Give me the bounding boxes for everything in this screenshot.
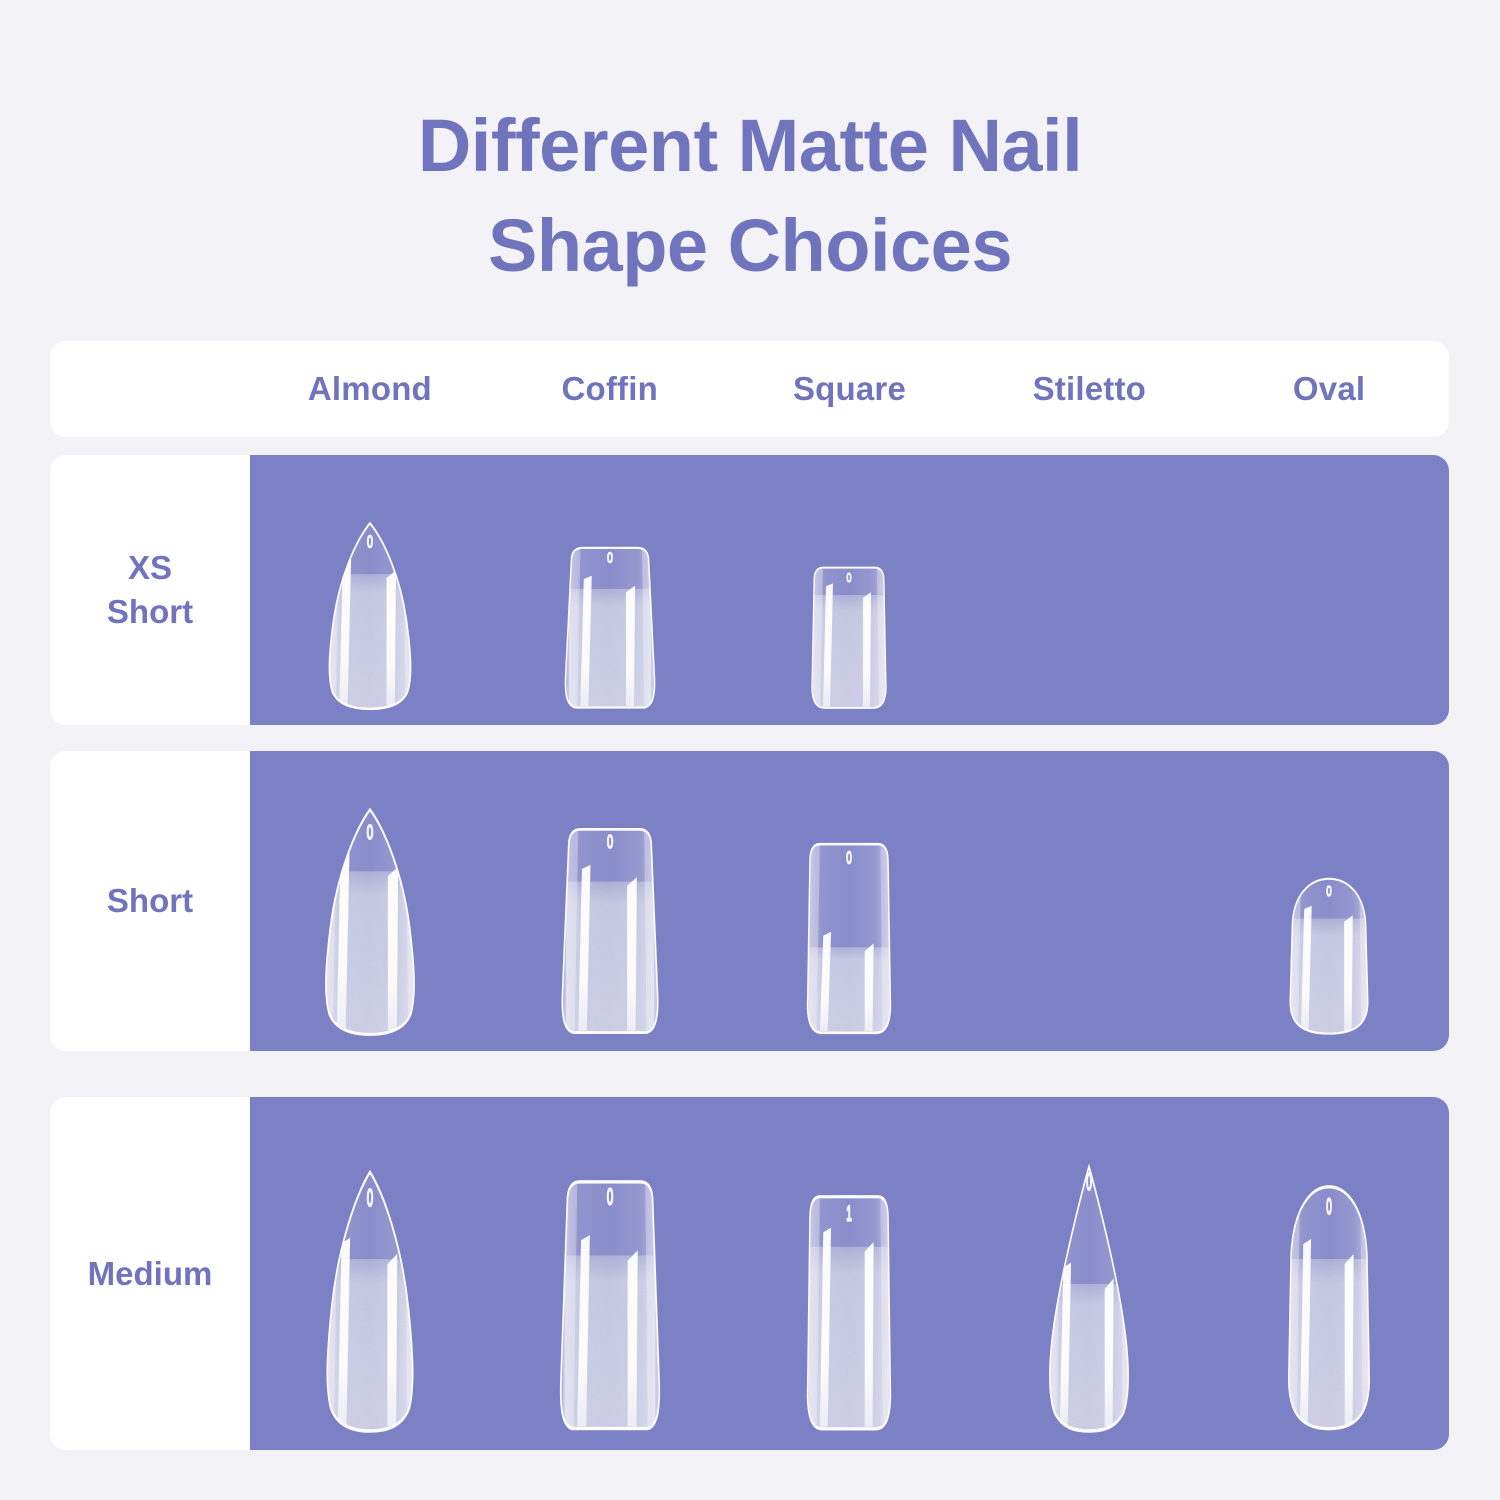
page-title-line-1: Different Matte Nail (0, 96, 1500, 196)
nail-tip-square: 0 (793, 842, 905, 1037)
nail-tip-coffin: 0 (547, 1179, 673, 1434)
nail-tip-oval: 0 (1275, 877, 1383, 1037)
nail-size-marker: 0 (847, 571, 852, 585)
nail-tip-square: 0 (799, 566, 899, 711)
nail-size-marker: 0 (607, 1184, 613, 1209)
nail-cell-stiletto-short[interactable] (969, 751, 1209, 1051)
row-label-text: XS Short (107, 546, 193, 634)
nail-size-marker: 0 (367, 533, 373, 552)
nail-cell-coffin-short[interactable]: 0 (490, 751, 730, 1051)
nail-cell-almond-medium[interactable]: 0 (250, 1097, 490, 1450)
nail-size-marker: 0 (607, 549, 613, 566)
nail-cell-oval-xs-short[interactable] (1209, 455, 1449, 725)
nail-size-marker: 0 (607, 832, 613, 853)
nail-tip-stiletto: 0 (1033, 1166, 1145, 1434)
nail-cell-coffin-xs-short[interactable]: 0 (490, 455, 730, 725)
nail-tip-almond: 0 (308, 1169, 432, 1434)
nail-tip-coffin: 0 (553, 546, 667, 711)
column-header-row: Almond Coffin Square Stiletto Oval (250, 341, 1449, 437)
nail-size-marker: 0 (367, 1184, 373, 1211)
page-title: Different Matte Nail Shape Choices (0, 96, 1500, 296)
nail-cell-coffin-medium[interactable]: 0 (490, 1097, 730, 1450)
nail-tip-wrapper-almond: 0 (306, 807, 434, 1037)
nail-tip-almond: 0 (306, 807, 434, 1037)
column-header-stiletto: Stiletto (969, 370, 1209, 408)
nail-tip-wrapper-almond: 0 (308, 1169, 432, 1434)
nail-tip-almond: 0 (311, 521, 429, 711)
nail-tip-wrapper-coffin: 0 (549, 827, 671, 1037)
nail-shape-chart-page: Different Matte Nail Shape Choices Almon… (0, 0, 1500, 1500)
column-header-coffin: Coffin (490, 370, 730, 408)
nail-tip-wrapper-almond: 0 (311, 521, 429, 711)
nail-cell-stiletto-xs-short[interactable] (969, 455, 1209, 725)
nail-size-marker: 0 (1086, 1168, 1092, 1195)
nail-size-marker: 0 (847, 849, 853, 869)
row-content-xs-short: 0 (250, 455, 1449, 725)
nail-tip-oval: 0 (1273, 1184, 1385, 1434)
nail-tip-wrapper-oval: 0 (1273, 1184, 1385, 1434)
nail-cell-square-short[interactable]: 0 (730, 751, 970, 1051)
nail-cell-almond-short[interactable]: 0 (250, 751, 490, 1051)
nail-cell-square-xs-short[interactable]: 0 (730, 455, 970, 725)
nail-size-marker: 1 (847, 1201, 853, 1225)
nail-size-marker: 0 (367, 821, 373, 844)
nail-tip-wrapper-square: 0 (793, 842, 905, 1037)
nail-tip-wrapper-square: 1 (793, 1194, 905, 1434)
row-label-short: Short (50, 751, 250, 1051)
nail-tip-coffin: 0 (549, 827, 671, 1037)
nail-cell-oval-medium[interactable]: 0 (1209, 1097, 1449, 1450)
nail-tip-wrapper-coffin: 0 (547, 1179, 673, 1434)
column-header-square: Square (730, 370, 970, 408)
nail-size-marker: 0 (1326, 883, 1332, 899)
row-label-text: Short (107, 879, 193, 923)
nail-size-marker: 0 (1326, 1193, 1332, 1219)
page-title-line-2: Shape Choices (0, 196, 1500, 296)
nail-tip-wrapper-oval: 0 (1275, 877, 1383, 1037)
nail-tip-wrapper-square: 0 (799, 566, 899, 711)
nail-cell-oval-short[interactable]: 0 (1209, 751, 1449, 1051)
nail-cell-stiletto-medium[interactable]: 0 (969, 1097, 1209, 1450)
nail-cell-almond-xs-short[interactable]: 0 (250, 455, 490, 725)
table-row: Short (50, 751, 1449, 1051)
row-content-medium: 0 (250, 1097, 1449, 1450)
table-row: XS Short (50, 455, 1449, 725)
row-label-medium: Medium (50, 1097, 250, 1450)
table-header-card: Almond Coffin Square Stiletto Oval (50, 341, 1449, 437)
nail-tip-wrapper-coffin: 0 (553, 546, 667, 711)
nail-cell-square-medium[interactable]: 1 (730, 1097, 970, 1450)
row-label-xs-short: XS Short (50, 455, 250, 725)
table-row: Medium (50, 1097, 1449, 1450)
column-header-almond: Almond (250, 370, 490, 408)
nail-tip-square: 1 (793, 1194, 905, 1434)
column-header-oval: Oval (1209, 370, 1449, 408)
row-label-text: Medium (88, 1252, 213, 1296)
nail-tip-wrapper-stiletto: 0 (1033, 1166, 1145, 1434)
row-content-short: 0 (250, 751, 1449, 1051)
